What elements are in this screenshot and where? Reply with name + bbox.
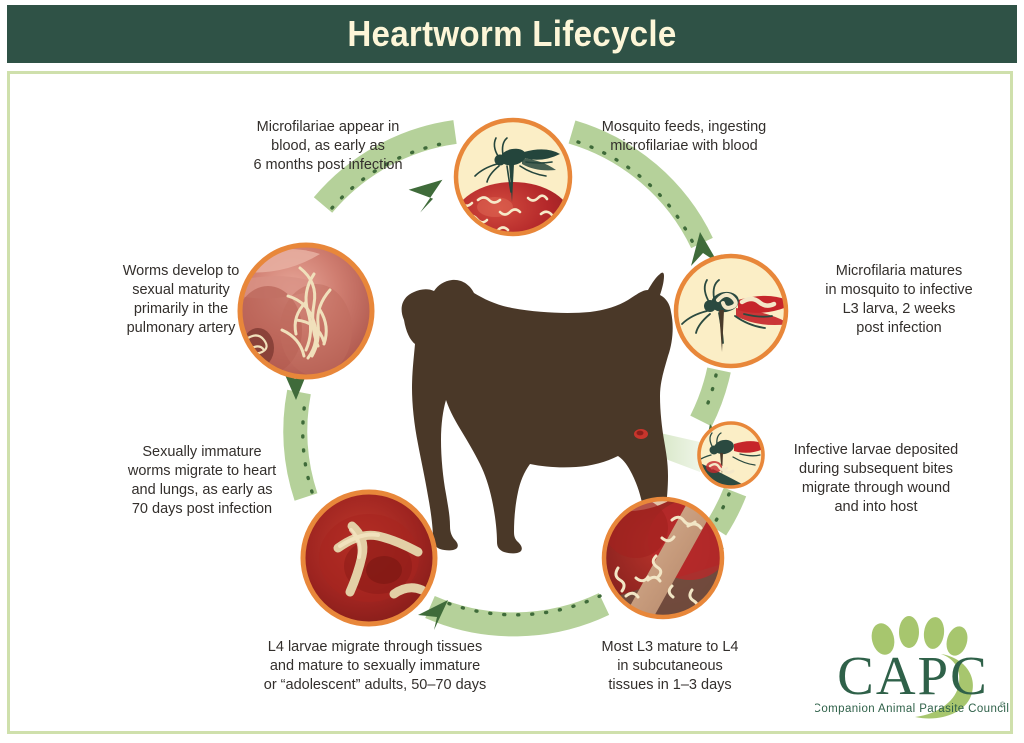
caption-line: Most L3 mature to L4 [575,638,765,657]
caption-line: tissues in 1–3 days [575,676,765,695]
stage-icon-l4-worms [303,492,435,624]
caption-line: microfilariae with blood [585,137,783,156]
ring-segment-right [701,370,719,421]
caption-most-l3-mature: Most L3 mature to L4 in subcutaneous tis… [575,638,765,695]
caption-microfilaria-matures: Microfilaria matures in mosquito to infe… [805,262,993,338]
caption-line: worms migrate to heart [110,462,294,481]
caption-line: and into host [768,498,984,517]
caption-line: sexual maturity [98,281,264,300]
caption-line: L4 larvae migrate through tissues [240,638,510,657]
svg-text:®: ® [1000,701,1006,709]
stage-icon-microfilaria-matures [676,256,794,366]
caption-line: and mature to sexually immature [240,657,510,676]
capc-logo[interactable]: CAPC Companion Animal Parasite Council ® [815,608,1011,726]
caption-line: and lungs, as early as [110,481,294,500]
caption-line: Sexually immature [110,443,294,462]
logo-tagline: Companion Animal Parasite Council ® [815,701,1009,715]
caption-line: pulmonary artery [98,319,264,338]
caption-line: L3 larva, 2 weeks [805,300,993,319]
caption-mosquito-feeds: Mosquito feeds, ingesting microfilariae … [585,118,783,156]
caption-line: or “adolescent” adults, 50–70 days [240,676,510,695]
caption-microfilariae-in-blood: Microfilariae appear in blood, as early … [228,118,428,175]
caption-worms-develop: Worms develop to sexual maturity primari… [98,262,264,338]
caption-line: migrate through wound [768,479,984,498]
infographic-poster: Heartworm Lifecycle [0,0,1024,743]
caption-line: Mosquito feeds, ingesting [585,118,783,137]
caption-line: Microfilariae appear in [228,118,428,137]
svg-text:CAPC: CAPC [837,645,989,706]
logo-wordmark: CAPC [837,645,989,706]
caption-infective-larvae: Infective larvae deposited during subseq… [768,441,984,517]
caption-line: blood, as early as [228,137,428,156]
ring-segment-lowerright [716,492,735,529]
stage-icon-mosquito-feeds [453,120,573,262]
caption-line: in mosquito to infective [805,281,993,300]
caption-line: Infective larvae deposited [768,441,984,460]
caption-line: Worms develop to [98,262,264,281]
caption-line: during subsequent bites [768,460,984,479]
caption-line: 70 days post infection [110,500,294,519]
caption-sexually-immature: Sexually immature worms migrate to heart… [110,443,294,519]
caption-line: in subcutaneous [575,657,765,676]
caption-line: post infection [805,319,993,338]
caption-line: primarily in the [98,300,264,319]
svg-text:Companion Animal Parasite Coun: Companion Animal Parasite Council [815,703,1009,715]
arrowhead-to-top [403,171,442,216]
caption-line: Microfilaria matures [805,262,993,281]
caption-line: 6 months post infection [228,156,428,175]
caption-l4-larvae-migrate: L4 larvae migrate through tissues and ma… [240,638,510,695]
